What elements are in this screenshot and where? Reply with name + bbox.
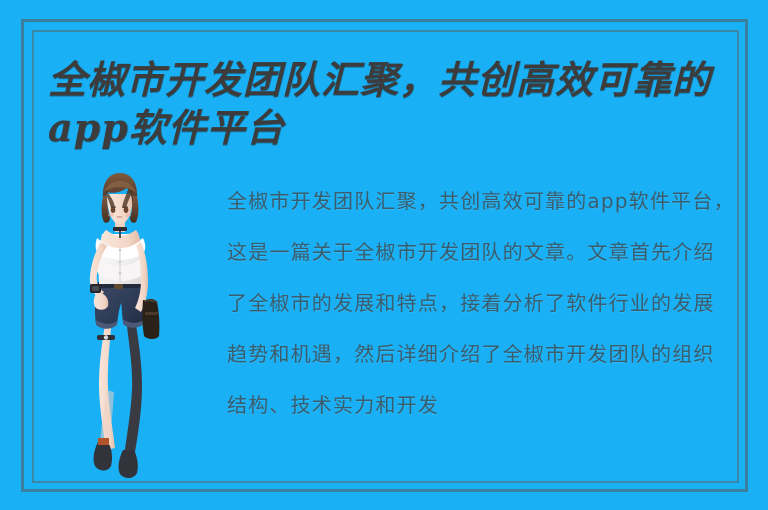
head	[102, 173, 139, 224]
anime-girl-illustration	[82, 172, 166, 482]
page-title: 全椒市开发团队汇聚，共创高效可靠的app软件平台	[48, 56, 738, 152]
poster-canvas: 全椒市开发团队汇聚，共创高效可靠的app软件平台	[0, 0, 768, 510]
wristwatch	[90, 284, 101, 293]
thigh-garter	[97, 335, 115, 340]
handbag	[142, 300, 159, 339]
article-body-text: 全椒市开发团队汇聚，共创高效可靠的app软件平台，这是一篇关于全椒市开发团队的文…	[227, 176, 735, 472]
choker	[113, 227, 127, 231]
